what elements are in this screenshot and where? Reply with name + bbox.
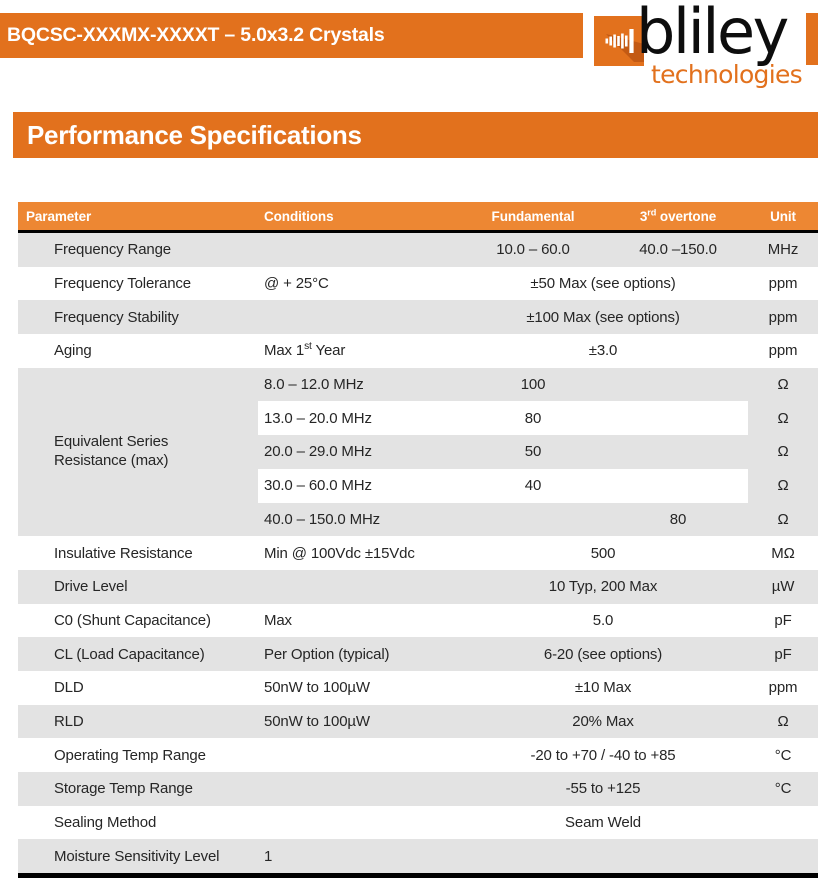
table-row: Aging Max 1st Year ±3.0 ppm (18, 334, 818, 368)
row-conditions (258, 806, 458, 840)
table-row: CL (Load Capacitance) Per Option (typica… (18, 637, 818, 671)
row-conditions: Min @ 100Vdc ±15Vdc (258, 536, 458, 570)
row-conditions (258, 300, 458, 334)
row-conditions: 8.0 – 12.0 MHz (258, 368, 458, 402)
row-merged-value: Seam Weld (458, 806, 748, 840)
third-overtone-superscript: rd (647, 207, 656, 217)
row-unit: MΩ (748, 536, 818, 570)
row-fundamental: 50 (458, 435, 608, 469)
table-row: Sealing Method Seam Weld (18, 806, 818, 840)
row-unit: pF (748, 604, 818, 638)
logo-wordmark: bliley (636, 1, 787, 63)
row-conditions: Max (258, 604, 458, 638)
row-parameter-esr: Equivalent Series Resistance (max) (18, 368, 258, 536)
row-fundamental (458, 503, 608, 537)
column-header-third-overtone: 3rd overtone (608, 202, 748, 232)
table-row: Moisture Sensitivity Level 1 (18, 839, 818, 873)
row-parameter: Storage Temp Range (18, 772, 258, 806)
table-row: Operating Temp Range -20 to +70 / -40 to… (18, 738, 818, 772)
row-unit: °C (748, 772, 818, 806)
row-merged-value: -20 to +70 / -40 to +85 (458, 738, 748, 772)
section-banner: Performance Specifications (13, 112, 818, 158)
table-row: Insulative Resistance Min @ 100Vdc ±15Vd… (18, 536, 818, 570)
row-conditions: 30.0 – 60.0 MHz (258, 469, 458, 503)
row-unit (748, 839, 818, 873)
company-logo: bliley technologies (594, 6, 800, 94)
table-row: Frequency Range 10.0 – 60.0 40.0 –150.0 … (18, 232, 818, 267)
row-parameter: CL (Load Capacitance) (18, 637, 258, 671)
row-conditions (258, 232, 458, 267)
row-third-overtone: 80 (608, 503, 748, 537)
row-parameter: Frequency Stability (18, 300, 258, 334)
row-fundamental: 80 (458, 401, 608, 435)
table-row: C0 (Shunt Capacitance) Max 5.0 pF (18, 604, 818, 638)
third-overtone-suffix: overtone (656, 209, 716, 224)
table-header: Parameter Conditions Fundamental 3rd ove… (18, 202, 818, 232)
page-title: BQCSC-XXXMX-XXXXT – 5.0x3.2 Crystals (0, 24, 385, 47)
product-title-bar: BQCSC-XXXMX-XXXXT – 5.0x3.2 Crystals (0, 13, 583, 58)
row-unit: Ω (748, 705, 818, 739)
esr-label-line1: Equivalent Series (54, 433, 168, 450)
conditions-superscript: st (304, 341, 312, 352)
row-unit: MHz (748, 232, 818, 267)
row-merged-value: ±100 Max (see options) (458, 300, 748, 334)
table-row: DLD 50nW to 100µW ±10 Max ppm (18, 671, 818, 705)
conditions-suffix: Year (312, 342, 345, 359)
row-merged-value (458, 839, 748, 873)
table-row: Drive Level 10 Typ, 200 Max µW (18, 570, 818, 604)
row-third-overtone (608, 469, 748, 503)
row-parameter: Moisture Sensitivity Level (18, 839, 258, 873)
spec-table: Parameter Conditions Fundamental 3rd ove… (18, 202, 818, 873)
conditions-prefix: Max 1 (264, 342, 304, 359)
row-merged-value: 500 (458, 536, 748, 570)
page-header: BQCSC-XXXMX-XXXXT – 5.0x3.2 Crystals bli… (0, 0, 818, 95)
row-conditions (258, 570, 458, 604)
column-header-conditions: Conditions (258, 202, 458, 232)
row-parameter: Sealing Method (18, 806, 258, 840)
row-unit: ppm (748, 267, 818, 301)
row-conditions: @ + 25°C (258, 267, 458, 301)
row-conditions: 50nW to 100µW (258, 705, 458, 739)
row-merged-value: ±10 Max (458, 671, 748, 705)
row-third-overtone (608, 368, 748, 402)
row-conditions: 1 (258, 839, 458, 873)
row-merged-value: 5.0 (458, 604, 748, 638)
row-unit: pF (748, 637, 818, 671)
row-unit: µW (748, 570, 818, 604)
row-unit: ppm (748, 671, 818, 705)
row-merged-value: 10 Typ, 200 Max (458, 570, 748, 604)
row-parameter: Frequency Tolerance (18, 267, 258, 301)
row-unit: Ω (748, 503, 818, 537)
row-merged-value: 6-20 (see options) (458, 637, 748, 671)
performance-specifications-table: Parameter Conditions Fundamental 3rd ove… (18, 202, 818, 878)
row-conditions: 50nW to 100µW (258, 671, 458, 705)
table-bottom-rule (18, 873, 818, 878)
table-row: Equivalent Series Resistance (max) 8.0 –… (18, 368, 818, 402)
esr-label-line2: Resistance (max) (54, 452, 168, 469)
row-parameter: Operating Temp Range (18, 738, 258, 772)
row-parameter: DLD (18, 671, 258, 705)
row-conditions: 40.0 – 150.0 MHz (258, 503, 458, 537)
logo-tagline: technologies (651, 62, 802, 87)
table-row: RLD 50nW to 100µW 20% Max Ω (18, 705, 818, 739)
row-conditions: Max 1st Year (258, 334, 458, 368)
row-third-overtone (608, 401, 748, 435)
row-merged-value: 20% Max (458, 705, 748, 739)
row-merged-value: ±50 Max (see options) (458, 267, 748, 301)
row-conditions (258, 738, 458, 772)
row-unit: ppm (748, 300, 818, 334)
table-body: Frequency Range 10.0 – 60.0 40.0 –150.0 … (18, 232, 818, 874)
row-fundamental: 10.0 – 60.0 (458, 232, 608, 267)
row-unit: ppm (748, 334, 818, 368)
column-header-unit: Unit (748, 202, 818, 232)
row-merged-value: -55 to +125 (458, 772, 748, 806)
right-edge-accent-bar (806, 13, 818, 65)
table-row: Storage Temp Range -55 to +125 °C (18, 772, 818, 806)
row-third-overtone (608, 435, 748, 469)
row-unit: Ω (748, 401, 818, 435)
row-parameter: Aging (18, 334, 258, 368)
row-unit: Ω (748, 368, 818, 402)
row-conditions: Per Option (typical) (258, 637, 458, 671)
column-header-fundamental: Fundamental (458, 202, 608, 232)
row-fundamental: 40 (458, 469, 608, 503)
column-header-parameter: Parameter (18, 202, 258, 232)
row-unit: Ω (748, 469, 818, 503)
row-unit (748, 806, 818, 840)
table-row: Frequency Stability ±100 Max (see option… (18, 300, 818, 334)
row-conditions: 20.0 – 29.0 MHz (258, 435, 458, 469)
row-conditions: 13.0 – 20.0 MHz (258, 401, 458, 435)
row-unit: °C (748, 738, 818, 772)
row-parameter: Insulative Resistance (18, 536, 258, 570)
row-third-overtone: 40.0 –150.0 (608, 232, 748, 267)
section-title: Performance Specifications (13, 120, 362, 151)
row-merged-value: ±3.0 (458, 334, 748, 368)
table-row: Frequency Tolerance @ + 25°C ±50 Max (se… (18, 267, 818, 301)
row-fundamental: 100 (458, 368, 608, 402)
row-parameter: RLD (18, 705, 258, 739)
row-conditions (258, 772, 458, 806)
row-unit: Ω (748, 435, 818, 469)
table-header-row: Parameter Conditions Fundamental 3rd ove… (18, 202, 818, 232)
row-parameter: Drive Level (18, 570, 258, 604)
row-parameter: Frequency Range (18, 232, 258, 267)
row-parameter: C0 (Shunt Capacitance) (18, 604, 258, 638)
